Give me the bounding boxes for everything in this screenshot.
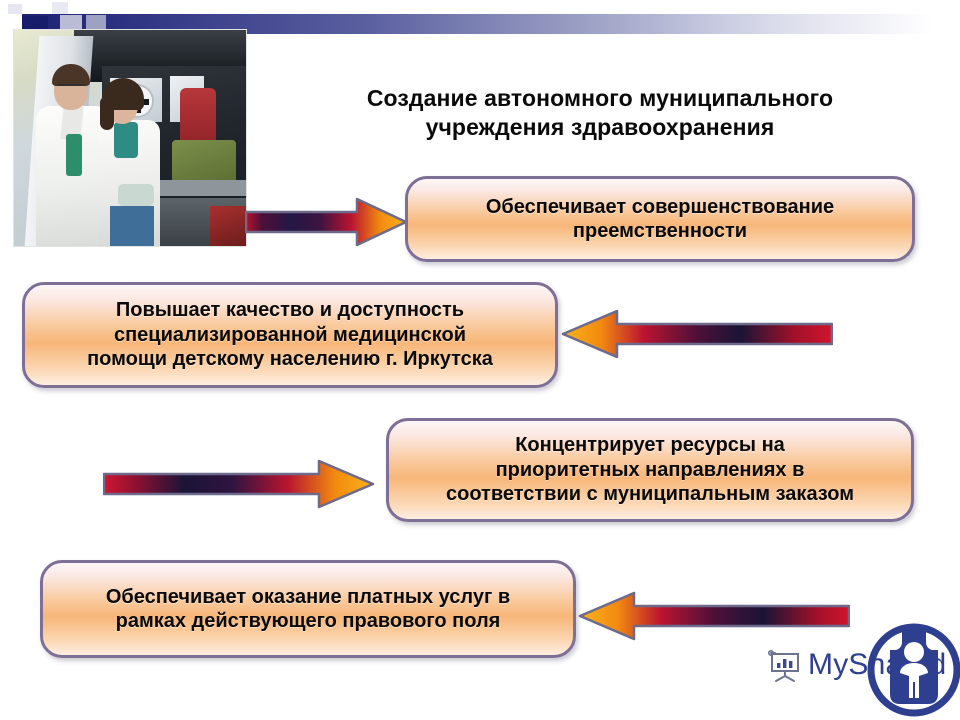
photo-doctor-glasses: [57, 84, 85, 91]
photo-green-bag: [172, 140, 236, 184]
callout-box-2-text: Повышает качество и доступность специали…: [77, 298, 503, 371]
photo-nurse-scrubs: [114, 122, 138, 158]
callout-box-2[interactable]: Повышает качество и доступность специали…: [22, 282, 558, 388]
callout-box-1[interactable]: Обеспечивает совершенствование преемстве…: [405, 176, 915, 262]
myshared-watermark: MyShared: [762, 628, 958, 716]
photo-red-panel: [210, 206, 246, 246]
photo-nurse-legs: [110, 206, 154, 246]
slide-title: Создание автономного муниципального учре…: [300, 84, 900, 142]
decor-square-small-2: [52, 2, 68, 14]
callout-box-4[interactable]: Обеспечивает оказание платных услуг в ра…: [40, 560, 576, 658]
slide-title-line-1: Создание автономного муниципального: [300, 84, 900, 113]
slide-canvas: Создание автономного муниципального учре…: [0, 0, 960, 720]
photo-nurse-hands: [118, 184, 154, 206]
callout-box-3[interactable]: Концентрирует ресурсы на приоритетных на…: [386, 418, 914, 522]
ambulance-photo: [14, 30, 246, 246]
arrow-right-icon: [245, 196, 408, 248]
callout-box-4-text: Обеспечивает оказание платных услуг в ра…: [96, 585, 520, 634]
arrow-right-icon: [103, 458, 375, 510]
photo-nurse-hair-side: [100, 96, 114, 130]
callout-box-3-text: Концентрирует ресурсы на приоритетных на…: [436, 433, 864, 506]
callout-box-1-text: Обеспечивает совершенствование преемстве…: [476, 195, 844, 244]
slide-title-line-2: учреждения здравоохранения: [300, 113, 900, 142]
presentation-chart-icon: [768, 650, 802, 684]
decor-square-small-1: [8, 4, 22, 14]
person-in-circle-icon: [866, 622, 960, 718]
arrow-left-icon: [561, 308, 833, 360]
photo-doctor-scarf: [66, 134, 82, 176]
photo-bench: [156, 180, 246, 196]
